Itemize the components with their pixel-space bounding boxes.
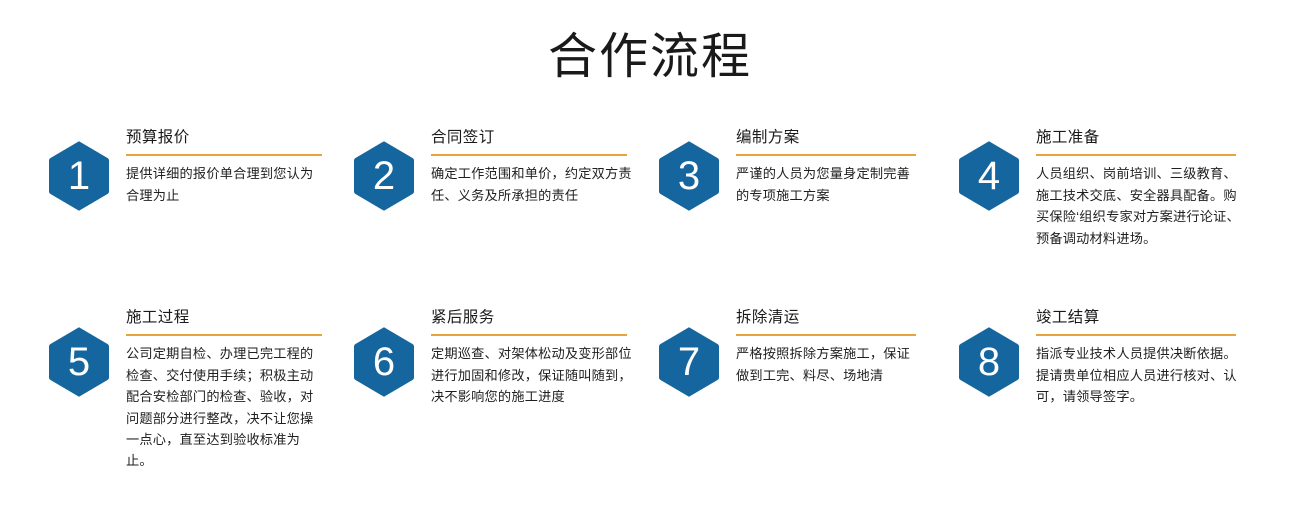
title-underline-rule xyxy=(431,334,627,337)
process-steps-grid: 1 预算报价 提供详细的报价单合理到您认为合理为止 2 合同签订 确定工作范围和… xyxy=(0,128,1300,472)
step-number-badge-1: 1 xyxy=(48,140,110,212)
step-title: 拆除清运 xyxy=(736,308,958,329)
step-text-block: 合同签订 确定工作范围和单价，约定双方责任、义务及所承担的责任 xyxy=(431,128,658,206)
step-description: 公司定期自检、办理已完工程的检查、交付使用手续；积极主动配合安检部门的检查、验收… xyxy=(126,343,322,471)
step-number: 5 xyxy=(68,342,90,382)
step-text-block: 编制方案 严谨的人员为您量身定制完善的专项施工方案 xyxy=(736,128,958,206)
step-number-badge-4: 4 xyxy=(958,140,1020,212)
hexagon-icon: 6 xyxy=(353,326,415,398)
process-step-6[interactable]: 6 紧后服务 定期巡查、对架体松动及变形部位进行加固和修改，保证随叫随到，决不影… xyxy=(353,308,658,472)
step-title: 竣工结算 xyxy=(1036,308,1300,329)
step-description: 指派专业技术人员提供决断依据。提请贵单位相应人员进行核对、认可，请领导签字。 xyxy=(1036,343,1242,407)
step-number-badge-7: 7 xyxy=(658,326,720,398)
process-step-1[interactable]: 1 预算报价 提供详细的报价单合理到您认为合理为止 xyxy=(48,128,353,308)
hexagon-icon: 1 xyxy=(48,140,110,212)
step-text-block: 竣工结算 指派专业技术人员提供决断依据。提请贵单位相应人员进行核对、认可，请领导… xyxy=(1036,308,1300,408)
title-underline-rule xyxy=(1036,334,1236,337)
title-underline-rule xyxy=(126,334,322,337)
process-step-7[interactable]: 7 拆除清运 严格按照拆除方案施工，保证做到工完、料尽、场地清 xyxy=(658,308,958,472)
step-text-block: 拆除清运 严格按照拆除方案施工，保证做到工完、料尽、场地清 xyxy=(736,308,958,386)
process-step-5[interactable]: 5 施工过程 公司定期自检、办理已完工程的检查、交付使用手续；积极主动配合安检部… xyxy=(48,308,353,472)
step-number-badge-3: 3 xyxy=(658,140,720,212)
step-number-badge-8: 8 xyxy=(958,326,1020,398)
title-underline-rule xyxy=(126,154,322,157)
page-title: 合作流程 xyxy=(0,0,1300,85)
step-description: 严格按照拆除方案施工，保证做到工完、料尽、场地清 xyxy=(736,343,922,386)
step-description: 提供详细的报价单合理到您认为合理为止 xyxy=(126,163,322,206)
process-step-3[interactable]: 3 编制方案 严谨的人员为您量身定制完善的专项施工方案 xyxy=(658,128,958,308)
step-text-block: 施工过程 公司定期自检、办理已完工程的检查、交付使用手续；积极主动配合安检部门的… xyxy=(126,308,353,472)
step-number: 3 xyxy=(678,156,700,196)
hexagon-icon: 8 xyxy=(958,326,1020,398)
title-underline-rule xyxy=(1036,154,1236,157)
hexagon-icon: 7 xyxy=(658,326,720,398)
step-description: 确定工作范围和单价，约定双方责任、义务及所承担的责任 xyxy=(431,163,634,206)
step-text-block: 施工准备 人员组织、岗前培训、三级教育、施工技术交底、安全器具配备。购买保险‘组… xyxy=(1036,128,1300,249)
step-description: 严谨的人员为您量身定制完善的专项施工方案 xyxy=(736,163,922,206)
step-title: 施工过程 xyxy=(126,308,353,329)
step-number-badge-2: 2 xyxy=(353,140,415,212)
step-number: 6 xyxy=(373,342,395,382)
step-title: 合同签订 xyxy=(431,128,658,149)
step-description: 定期巡查、对架体松动及变形部位进行加固和修改，保证随叫随到，决不影响您的施工进度 xyxy=(431,343,634,407)
hexagon-icon: 2 xyxy=(353,140,415,212)
step-number: 1 xyxy=(68,156,90,196)
step-title: 预算报价 xyxy=(126,128,353,149)
title-underline-rule xyxy=(431,154,627,157)
title-underline-rule xyxy=(736,154,916,157)
step-number-badge-6: 6 xyxy=(353,326,415,398)
step-title: 施工准备 xyxy=(1036,128,1300,149)
step-number: 7 xyxy=(678,342,700,382)
step-number: 2 xyxy=(373,156,395,196)
title-underline-rule xyxy=(736,334,916,337)
process-step-2[interactable]: 2 合同签订 确定工作范围和单价，约定双方责任、义务及所承担的责任 xyxy=(353,128,658,308)
step-number-badge-5: 5 xyxy=(48,326,110,398)
step-text-block: 预算报价 提供详细的报价单合理到您认为合理为止 xyxy=(126,128,353,206)
step-title: 紧后服务 xyxy=(431,308,658,329)
step-number: 4 xyxy=(978,156,1000,196)
hexagon-icon: 3 xyxy=(658,140,720,212)
hexagon-icon: 4 xyxy=(958,140,1020,212)
step-description: 人员组织、岗前培训、三级教育、施工技术交底、安全器具配备。购买保险‘组织专家对方… xyxy=(1036,163,1242,249)
step-text-block: 紧后服务 定期巡查、对架体松动及变形部位进行加固和修改，保证随叫随到，决不影响您… xyxy=(431,308,658,408)
hexagon-icon: 5 xyxy=(48,326,110,398)
step-number: 8 xyxy=(978,342,1000,382)
process-step-8[interactable]: 8 竣工结算 指派专业技术人员提供决断依据。提请贵单位相应人员进行核对、认可，请… xyxy=(958,308,1300,472)
process-step-4[interactable]: 4 施工准备 人员组织、岗前培训、三级教育、施工技术交底、安全器具配备。购买保险… xyxy=(958,128,1300,308)
step-title: 编制方案 xyxy=(736,128,958,149)
